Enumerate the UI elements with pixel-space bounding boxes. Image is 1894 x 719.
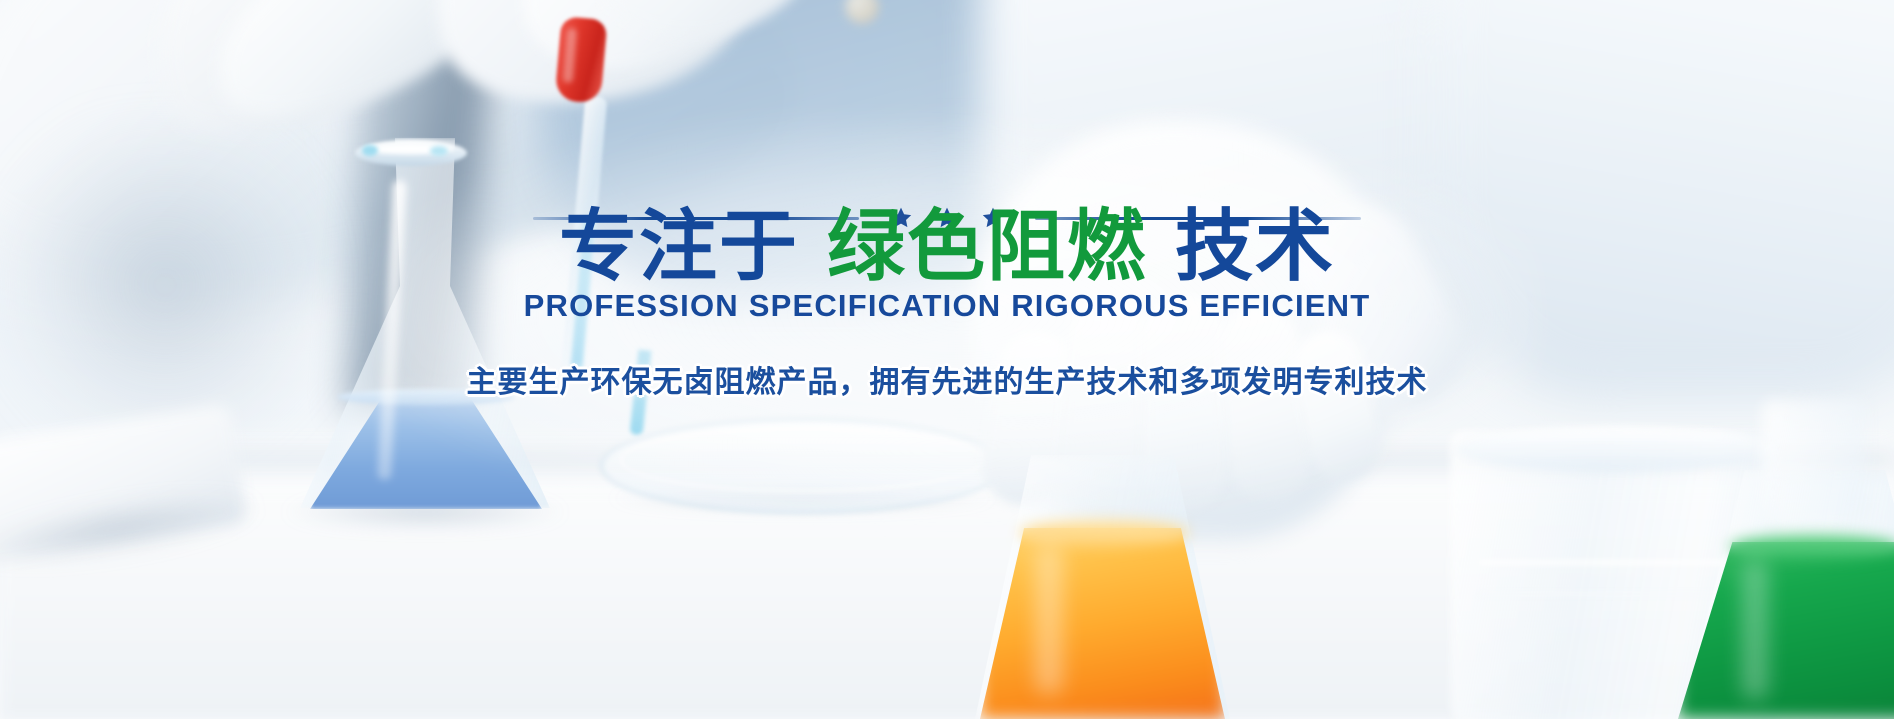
english-subtitle: PROFESSION SPECIFICATION RIGOROUS EFFICI… [0, 288, 1894, 324]
headline-highlight: 绿色阻燃 [827, 202, 1147, 290]
headline: 专注于绿色阻燃技术 [0, 194, 1894, 298]
banner-content: 专注于绿色阻燃技术 PROFESSION SPECIFICATION RIGOR… [0, 0, 1894, 719]
headline-part-3: 技术 [1175, 202, 1335, 290]
description-text: 主要生产环保无卤阻燃产品，拥有先进的生产技术和多项发明专利技术 [0, 357, 1894, 401]
hero-banner: 专注于绿色阻燃技术 PROFESSION SPECIFICATION RIGOR… [0, 0, 1894, 719]
headline-part-1: 专注于 [559, 202, 799, 290]
